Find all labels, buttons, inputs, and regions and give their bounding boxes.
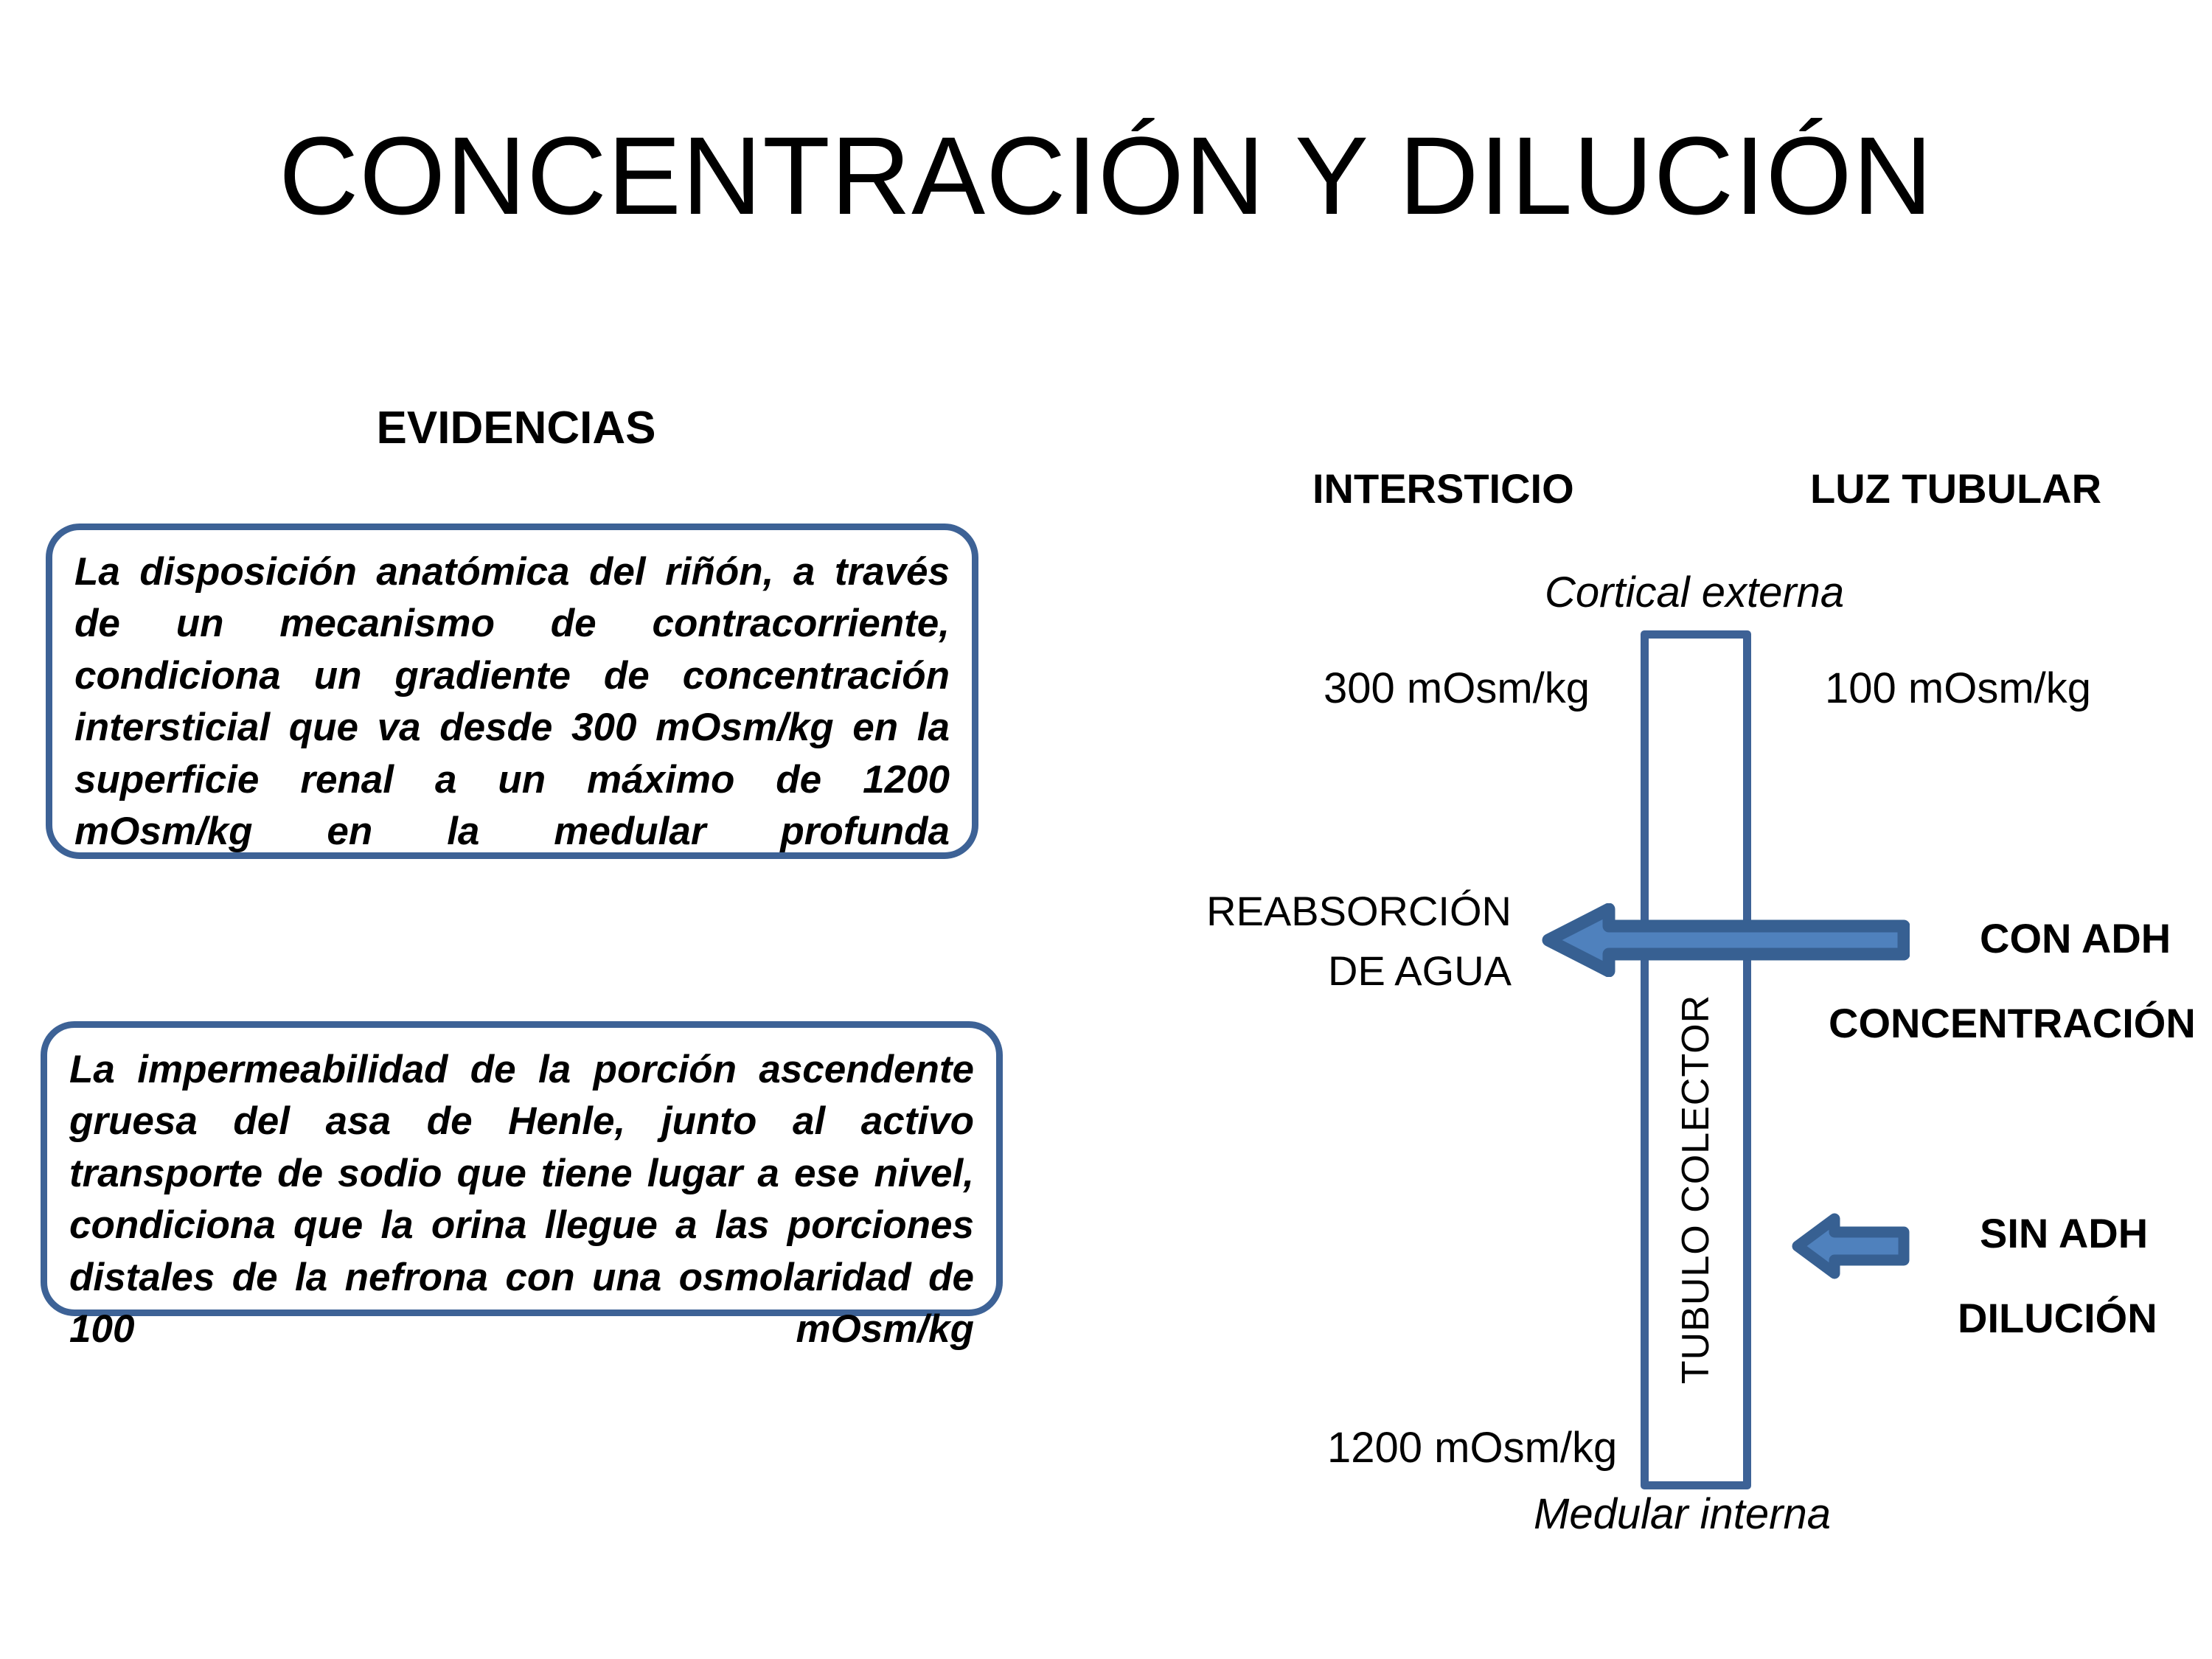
region-label-medular-interna: Medular interna (1534, 1489, 1831, 1539)
osmolality-lumen-top: 100 mOsm/kg (1825, 664, 2091, 713)
water-reabsorption-caption: REABSORCIÓN DE AGUA (1143, 881, 1512, 1001)
dilution-arrow-icon (1792, 1213, 1910, 1279)
osmolality-interstitium-top: 300 mOsm/kg (1324, 664, 1590, 713)
column-header-interstitium: INTERSTICIO (1312, 465, 1574, 512)
slide-canvas: CONCENTRACIÓN Y DILUCIÓN EVIDENCIAS La d… (0, 0, 2212, 1659)
tubule-label: TUBULO COLECTOR (1674, 994, 1718, 1383)
caption-line-2: DE AGUA (1143, 941, 1512, 1001)
region-label-cortical-externa: Cortical externa (1545, 568, 1844, 617)
without-adh-label: SIN ADH (1980, 1209, 2148, 1257)
caption-line-1: REABSORCIÓN (1143, 881, 1512, 941)
column-header-tubular-lumen: LUZ TUBULAR (1810, 465, 2101, 512)
evidence-text: La disposición anatómica del riñón, a tr… (74, 546, 950, 910)
evidence-text: La impermeabilidad de la porción ascende… (69, 1044, 974, 1408)
arrow-left-small-icon (1792, 1213, 1910, 1279)
collecting-tubule-shape: TUBULO COLECTOR (1641, 630, 1751, 1489)
page-title: CONCENTRACIÓN Y DILUCIÓN (0, 118, 2212, 234)
evidence-box-henle-impermeability: La impermeabilidad de la porción ascende… (41, 1021, 1003, 1316)
with-adh-effect-label: CONCENTRACIÓN (1829, 999, 2196, 1047)
collecting-duct-diagram: INTERSTICIO LUZ TUBULAR Cortical externa… (1143, 442, 2212, 1593)
without-adh-effect-label: DILUCIÓN (1958, 1294, 2157, 1342)
evidence-box-anatomic-gradient: La disposición anatómica del riñón, a tr… (46, 524, 978, 859)
water-reabsorption-arrow-icon (1541, 903, 1910, 977)
arrow-left-large-icon (1541, 903, 1910, 977)
osmolality-interstitium-bottom: 1200 mOsm/kg (1327, 1423, 1617, 1472)
with-adh-label: CON ADH (1980, 914, 2171, 962)
evidencias-heading: EVIDENCIAS (59, 402, 973, 454)
